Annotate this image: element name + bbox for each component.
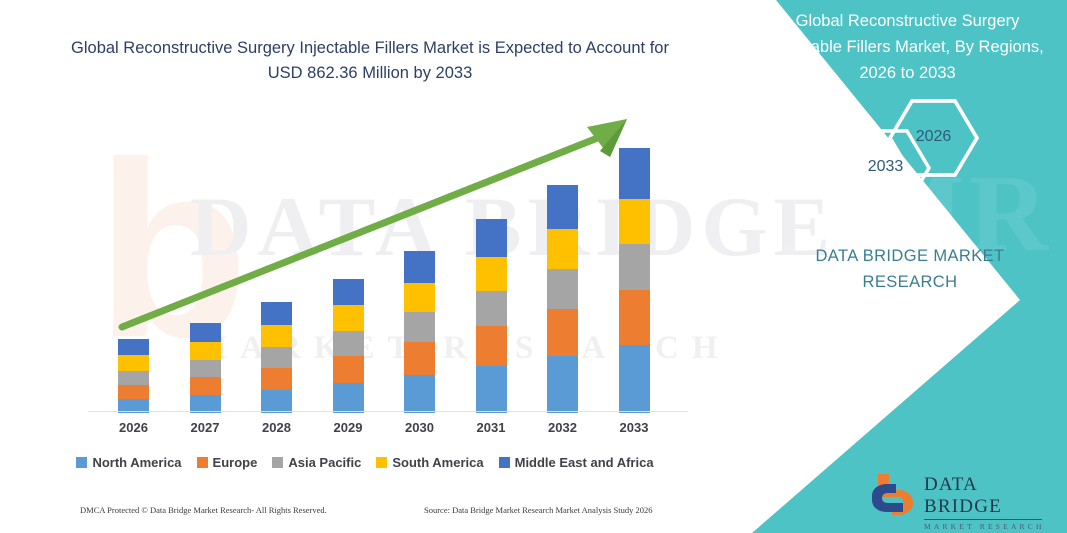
bar-2029[interactable] xyxy=(333,279,364,413)
data-bridge-logo: DATA BRIDGE MARKET RESEARCH xyxy=(868,470,1048,518)
hexagon-label-2033: 2033 xyxy=(842,158,929,176)
brand-line-2: RESEARCH xyxy=(775,269,1045,295)
footer-bar: DMCA Protected © Data Bridge Market Rese… xyxy=(0,505,730,525)
bar-segment xyxy=(333,279,364,306)
bar-segment xyxy=(118,385,149,399)
bar-2028[interactable] xyxy=(261,302,292,413)
data-bridge-mark-icon xyxy=(868,470,924,516)
logo-tagline: MARKET RESEARCH xyxy=(924,522,1048,531)
x-axis-label-2029: 2029 xyxy=(318,420,378,435)
side-panel-brand: DATA BRIDGE MARKET RESEARCH xyxy=(775,243,1045,295)
brand-line-1: DATA BRIDGE MARKET xyxy=(775,243,1045,269)
bar-segment xyxy=(619,148,650,199)
logo-wordmark: DATA BRIDGE MARKET RESEARCH xyxy=(924,474,1048,531)
bar-segment xyxy=(476,291,507,326)
x-axis-label-2031: 2031 xyxy=(461,420,521,435)
legend-item-south-america[interactable]: South America xyxy=(376,455,483,470)
bar-segment xyxy=(190,323,221,342)
bar-segment xyxy=(333,331,364,356)
bar-segment xyxy=(118,371,149,385)
bar-segment xyxy=(190,377,221,395)
bar-segment xyxy=(261,368,292,390)
bar-segment xyxy=(619,345,650,413)
bar-segment xyxy=(476,257,507,292)
bar-segment xyxy=(261,302,292,325)
x-axis-label-2026: 2026 xyxy=(104,420,164,435)
logo-divider xyxy=(924,519,1042,520)
bar-segment xyxy=(333,305,364,331)
bar-2027[interactable] xyxy=(190,323,221,413)
bar-segment xyxy=(404,312,435,342)
legend-item-europe[interactable]: Europe xyxy=(197,455,258,470)
legend-swatch-icon xyxy=(499,457,510,468)
legend-item-north-america[interactable]: North America xyxy=(76,455,181,470)
legend-label: Europe xyxy=(213,455,258,470)
bar-segment xyxy=(619,290,650,345)
bar-2031[interactable] xyxy=(476,219,507,413)
infographic-root: b DATA BRIDGE MARKET RESEARCH Global Rec… xyxy=(0,0,1067,533)
bar-2033[interactable] xyxy=(619,148,650,413)
bar-segment xyxy=(118,355,149,371)
chart-title: Global Reconstructive Surgery Injectable… xyxy=(70,36,670,86)
bar-segment xyxy=(190,342,221,360)
bar-segment xyxy=(619,244,650,291)
bar-segment xyxy=(404,342,435,375)
legend-label: North America xyxy=(92,455,181,470)
x-axis-label-2028: 2028 xyxy=(247,420,307,435)
bar-segment xyxy=(476,366,507,413)
x-axis-label-2030: 2030 xyxy=(390,420,450,435)
bar-segment xyxy=(476,326,507,366)
bar-segment xyxy=(404,375,435,413)
legend-item-asia-pacific[interactable]: Asia Pacific xyxy=(272,455,361,470)
bar-segment xyxy=(547,229,578,269)
bar-segment xyxy=(547,269,578,310)
footer-copyright: DMCA Protected © Data Bridge Market Rese… xyxy=(80,505,327,515)
bar-segment xyxy=(547,356,578,413)
hexagon-shapes-icon xyxy=(760,95,1060,210)
bar-2026[interactable] xyxy=(118,339,149,413)
legend-label: Asia Pacific xyxy=(288,455,361,470)
x-axis-label-2032: 2032 xyxy=(533,420,593,435)
logo-name: DATA BRIDGE xyxy=(924,474,1048,518)
chart-plot-area xyxy=(100,118,680,413)
legend-swatch-icon xyxy=(376,457,387,468)
footer-source: Source: Data Bridge Market Research Mark… xyxy=(424,505,653,515)
legend-swatch-icon xyxy=(272,457,283,468)
legend-swatch-icon xyxy=(197,457,208,468)
x-axis-label-2027: 2027 xyxy=(175,420,235,435)
bar-segment xyxy=(261,325,292,347)
bar-segment xyxy=(118,339,149,355)
bar-2032[interactable] xyxy=(547,185,578,413)
hexagon-label-2026: 2026 xyxy=(890,128,977,146)
side-panel-title: Global Reconstructive Surgery Injectable… xyxy=(765,8,1050,86)
bar-segment xyxy=(547,185,578,229)
x-axis-labels: 20262027202820292030203120322033 xyxy=(88,420,688,444)
x-axis-label-2033: 2033 xyxy=(604,420,664,435)
chart-legend: North AmericaEuropeAsia PacificSouth Ame… xyxy=(0,455,730,470)
bar-segment xyxy=(404,251,435,283)
legend-label: South America xyxy=(392,455,483,470)
bar-segment xyxy=(190,360,221,377)
bar-segment xyxy=(619,199,650,244)
bar-segment xyxy=(261,347,292,368)
hexagon-group: 2026 2033 xyxy=(760,95,1060,210)
legend-item-middle-east-and-africa[interactable]: Middle East and Africa xyxy=(499,455,654,470)
bar-segment xyxy=(333,356,364,383)
bar-segment xyxy=(404,283,435,313)
bar-2030[interactable] xyxy=(404,251,435,413)
bar-segment xyxy=(333,383,364,413)
x-axis-line xyxy=(88,411,688,412)
legend-swatch-icon xyxy=(76,457,87,468)
bar-segment xyxy=(261,390,292,413)
legend-label: Middle East and Africa xyxy=(515,455,654,470)
bar-segment xyxy=(476,219,507,257)
bar-segment xyxy=(547,309,578,356)
